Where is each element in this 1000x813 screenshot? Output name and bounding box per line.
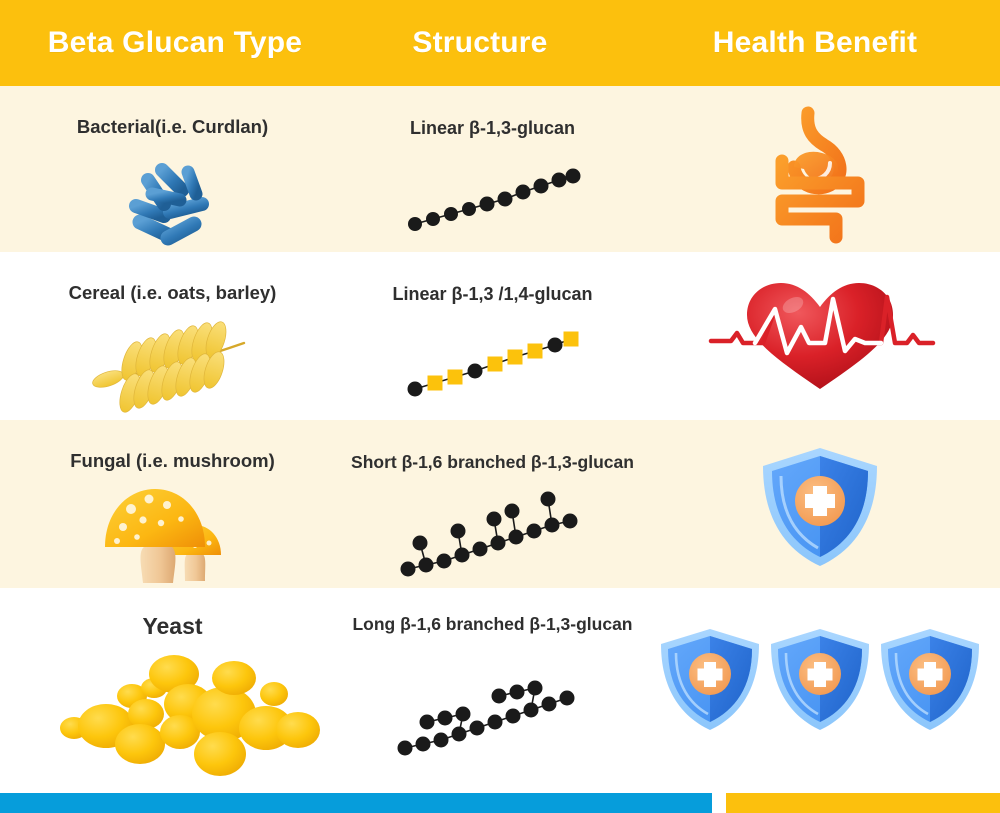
row-3-type-cell: Fungal (i.e. mushroom)	[0, 420, 345, 588]
row-3-structure-label: Short β-1,6 branched β-1,3-glucan	[345, 452, 640, 473]
header-structure: Structure	[345, 0, 615, 86]
row-1-type-cell: Bacterial(i.e. Curdlan)	[0, 86, 345, 252]
shield-1	[661, 629, 759, 730]
header-structure-label: Structure	[412, 26, 547, 60]
header-health-benefit-label: Health Benefit	[713, 26, 918, 60]
row-4-type-cell: Yeast	[0, 588, 345, 778]
long-branched-chain-diagram	[395, 648, 590, 763]
row-3-structure-cell: Short β-1,6 branched β-1,3-glucan	[345, 420, 640, 588]
header-beta-glucan-type-label: Beta Glucan Type	[48, 26, 302, 60]
shield-2	[771, 629, 869, 730]
table-header: Beta Glucan Type Structure Health Benefi…	[0, 0, 1000, 86]
row-4-structure-label: Long β-1,6 branched β-1,3-glucan	[345, 614, 640, 635]
mixed-chain-diagram	[403, 327, 583, 401]
table-row: Fungal (i.e. mushroom)	[0, 420, 1000, 588]
short-branched-chain-diagram	[398, 481, 588, 581]
table-row: Yeast	[0, 588, 1000, 778]
footer-bar-right	[726, 793, 1000, 813]
heart-ecg-icon	[705, 273, 935, 399]
row-1-structure-cell: Linear β-1,3-glucan	[345, 86, 640, 252]
row-2-structure-label: Linear β-1,3 /1,4-glucan	[345, 284, 640, 305]
row-4-type-label: Yeast	[0, 613, 345, 640]
footer-bar-left	[0, 793, 712, 813]
wheat-stalk-icon	[88, 315, 258, 415]
bacteria-icon	[118, 150, 228, 246]
row-1-benefit-cell	[640, 86, 1000, 252]
table-row: Cereal (i.e. oats, barley)	[0, 252, 1000, 420]
header-beta-glucan-type: Beta Glucan Type	[10, 0, 340, 86]
mushroom-icon	[93, 475, 253, 587]
shield-plus-icon	[755, 444, 885, 570]
linear-chain-diagram	[403, 164, 583, 236]
table-row: Bacterial(i.e. Curdlan)	[0, 86, 1000, 252]
row-2-benefit-cell	[640, 252, 1000, 420]
row-3-benefit-cell	[640, 420, 1000, 588]
shield-3	[881, 629, 979, 730]
row-1-type-label: Bacterial(i.e. Curdlan)	[0, 116, 345, 138]
header-health-benefit: Health Benefit	[640, 0, 990, 86]
row-4-structure-cell: Long β-1,6 branched β-1,3-glucan	[345, 588, 640, 778]
row-4-benefit-cell	[640, 588, 1000, 778]
yeast-cells-icon	[28, 644, 318, 764]
row-2-type-label: Cereal (i.e. oats, barley)	[0, 282, 345, 304]
infographic-sheet: Beta Glucan Type Structure Health Benefi…	[0, 0, 1000, 813]
row-2-type-cell: Cereal (i.e. oats, barley)	[0, 252, 345, 420]
row-1-structure-label: Linear β-1,3-glucan	[345, 118, 640, 139]
digestive-system-icon	[760, 105, 880, 245]
row-3-type-label: Fungal (i.e. mushroom)	[0, 450, 345, 472]
row-2-structure-cell: Linear β-1,3 /1,4-glucan	[345, 252, 640, 420]
triple-shield-plus-icon	[655, 622, 985, 740]
